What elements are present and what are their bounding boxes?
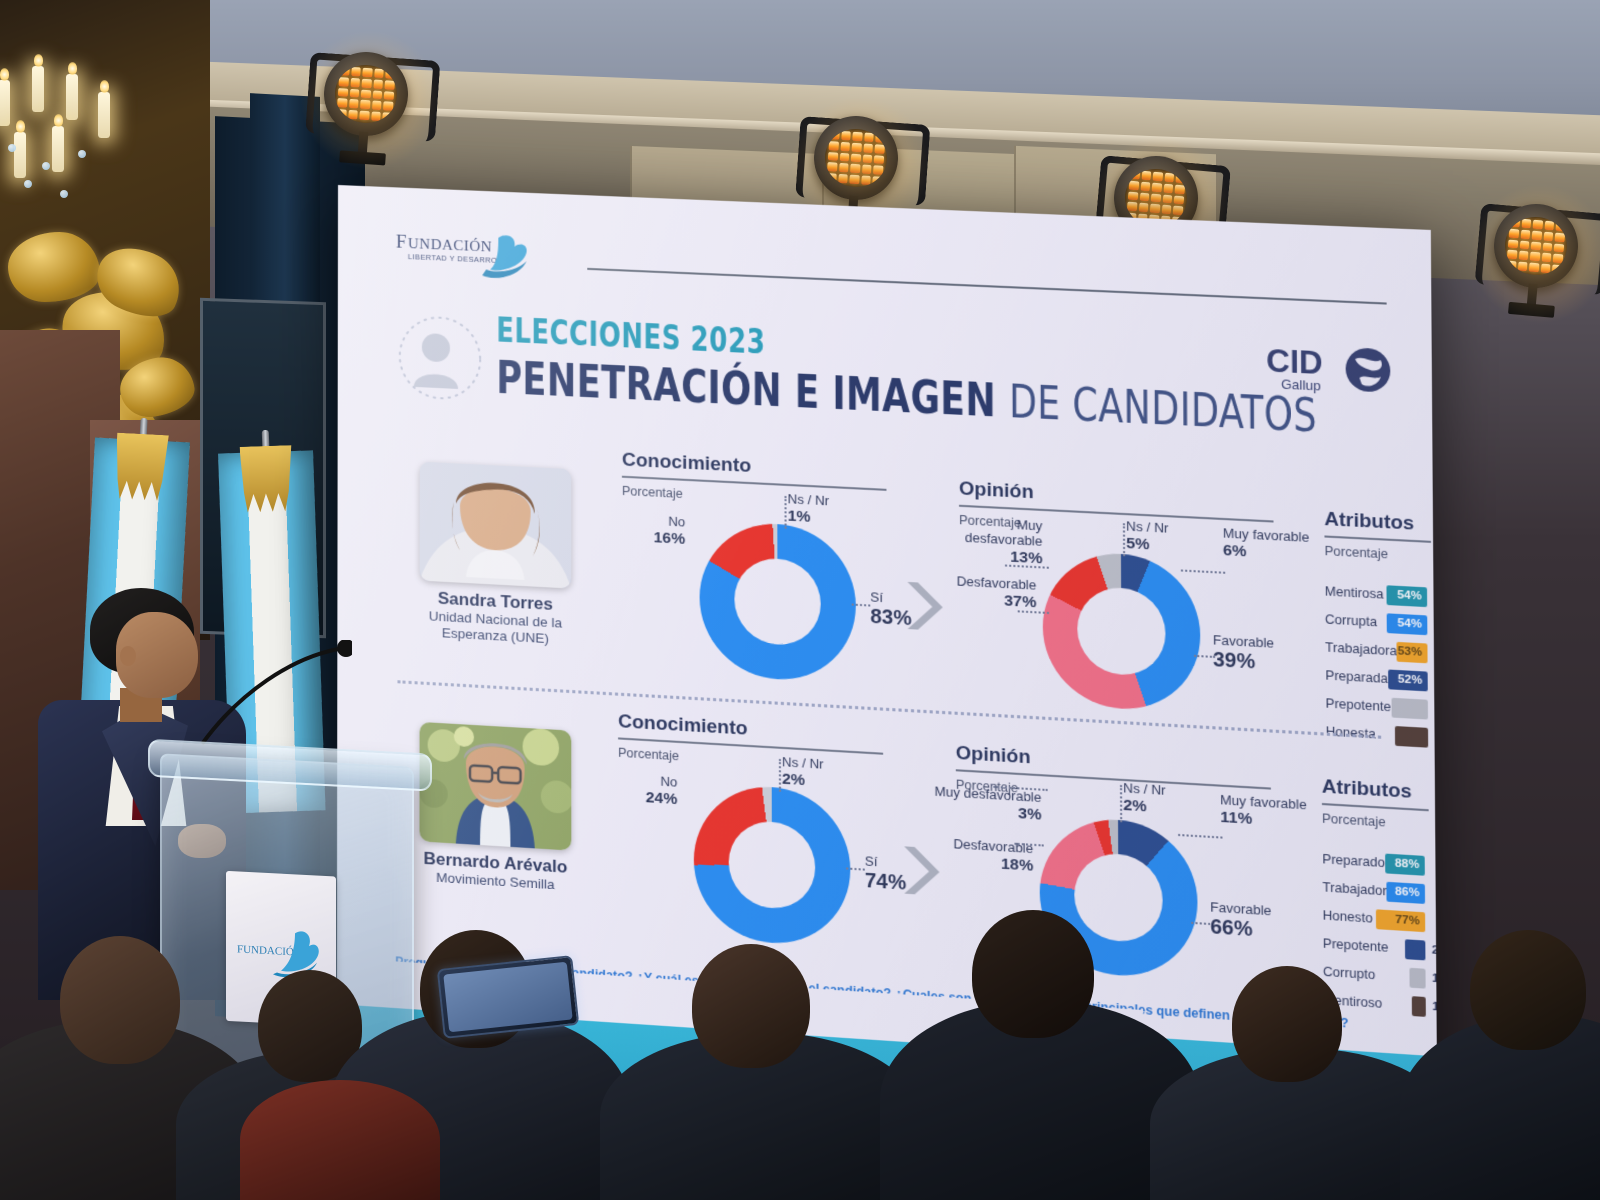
attribute-label: Trabajadora [1325,640,1397,658]
attribute-row: Prepotente21% [1323,931,1426,962]
panel-unit-label: Porcentaje [1325,544,1389,562]
leader-line [1181,569,1225,573]
attribute-bar: 77% [1376,909,1426,932]
leader-line [779,759,781,792]
chandelier [0,40,140,220]
panel-title-opinion: Opinión [956,743,1031,770]
stage-par-light [1484,196,1588,296]
attribute-label: Prepotente [1325,696,1391,714]
attribute-row: Preparado88% [1322,847,1425,878]
attribute-label: Mentiroso [1323,993,1411,1013]
conocimiento-donut-chart [699,520,856,683]
svg-text:CID: CID [1266,343,1323,382]
attribute-bar: 13% [1411,996,1426,1017]
label-desfavorable: Desfavorable18% [929,835,1033,875]
panel-title-opinion: Opinión [959,478,1034,504]
candidate-photo [420,462,572,589]
attribute-row: Trabajadora53% [1325,635,1427,665]
panel-title-atributos: Atributos [1322,776,1412,804]
label-nsnr: Ns / Nr5% [1126,519,1189,556]
attribute-bar: 52% [1388,669,1428,691]
panel-unit-label: Porcentaje [1322,811,1386,829]
attribute-row: Trabajador86% [1322,875,1425,906]
label-muy-desfavorable: Muy desfavorable13% [940,514,1042,568]
fundacion-logo: F UNDACIÓN LIBERTAD Y DESARROLLO [394,225,565,287]
slide-content: F UNDACIÓN LIBERTAD Y DESARROLLO [337,185,1438,1147]
leader-line [1178,834,1222,839]
candidate-profile: Sandra Torres Unidad Nacional de la Espe… [400,461,592,650]
attribute-value: 13% [1426,1000,1438,1015]
header-divider [587,268,1386,305]
panel-unit-label: Porcentaje [618,746,679,764]
label-muy-favorable: Muy favorable6% [1223,526,1329,565]
leader-line [1194,655,1215,658]
label-desfavorable: Desfavorable37% [932,573,1036,612]
conference-room-scene: F UNDACIÓN LIBERTAD Y DESARROLLO [0,0,1600,1200]
attribute-value: 54% [1397,589,1427,603]
panel-divider [1322,803,1429,811]
person-avatar-icon [398,314,482,402]
attribute-row: Preparada52% [1325,663,1428,694]
projection-screen: F UNDACIÓN LIBERTAD Y DESARROLLO [337,185,1438,1147]
attribute-label: Corrupta [1325,612,1387,630]
label-no: No24% [616,772,677,809]
attribute-value: 15% [1426,972,1438,987]
attribute-bar: 54% [1387,585,1428,607]
attribute-bar: 53% [1397,641,1428,662]
attribute-label: Prepotente [1323,936,1405,956]
attribute-bar: 40% [1395,725,1429,747]
slide-title-bold: PENETRACIÓN E IMAGEN [496,350,996,427]
leader-line [1018,610,1049,614]
opinion-donut-chart [1042,550,1200,713]
slide-number: 22 [1378,1101,1401,1126]
attribute-bar: 54% [1387,613,1428,635]
slide-title: PENETRACIÓN E IMAGEN DE CANDIDATOS [496,350,1317,443]
conocimiento-donut-chart [694,783,851,948]
attribute-value: 54% [1397,617,1427,631]
candidate-profile: Bernardo Arévalo Movimiento Semilla [399,721,591,896]
attribute-row: Prepotente47% [1325,691,1428,722]
panel-divider [1324,535,1431,542]
attribute-bar: 21% [1404,939,1425,960]
panel-title-conocimiento: Conocimiento [622,449,751,478]
attribute-bar: 47% [1391,697,1428,719]
leader-line [1123,523,1125,556]
attribute-value: 21% [1425,944,1437,959]
panel-unit-label: Porcentaje [622,484,683,501]
attribute-value: 52% [1398,673,1428,687]
candidate-photo [419,722,571,851]
label-nsnr: Ns / Nr1% [788,492,860,529]
attribute-value: 53% [1398,645,1428,659]
attribute-value: 86% [1395,885,1425,899]
label-favorable: Favorable39% [1213,633,1319,678]
attribute-bar: 88% [1385,853,1425,875]
lectern: FUNDACIÓN [160,753,414,1100]
label-muy-favorable: Muy favorable11% [1220,793,1326,833]
stage-par-light [315,45,417,143]
opinion-donut-chart [1039,815,1197,980]
attribute-label: Trabajador [1322,880,1387,899]
svg-text:Gallup: Gallup [1281,376,1321,393]
atributos-bar-chart: Preparado88%Trabajador86%Honesto77%Prepo… [1322,847,1426,1022]
leader-line [1120,785,1122,822]
lectern-base [172,1078,402,1108]
fundacion-hand-icon [1285,1059,1360,1131]
attribute-label: Preparado [1322,852,1385,870]
cid-gallup-logo: CID Gallup [1266,336,1394,406]
attribute-value: 40% [1428,731,1437,745]
attribute-row: Corrupta54% [1325,607,1427,637]
attribute-label: Honesto [1323,908,1376,926]
atributos-bar-chart: Mentirosa54%Corrupta54%Trabajadora53%Pre… [1325,579,1428,753]
label-no: No16% [624,512,685,548]
attribute-row: Corrupto15% [1323,959,1426,991]
attribute-label: Corrupto [1323,964,1410,984]
attribute-row: Mentirosa54% [1325,579,1427,609]
attribute-value: 77% [1395,914,1425,928]
attribute-value: 88% [1395,857,1425,871]
label-nsnr: Ns / Nr2% [782,755,854,793]
attribute-bar: 15% [1410,967,1426,988]
stage-par-light [805,109,907,207]
attribute-label: Mentirosa [1325,584,1387,602]
attribute-value: 47% [1428,703,1438,717]
attribute-row: Honesto77% [1323,903,1426,934]
leader-line [784,496,786,529]
lectern-logo-plate: FUNDACIÓN [226,871,336,1027]
label-favorable: Favorable66% [1210,900,1316,946]
attribute-label: Preparada [1325,668,1388,686]
label-nsnr: Ns / Nr2% [1123,781,1186,819]
attribute-bar: 86% [1387,881,1425,903]
svg-text:F: F [396,231,407,253]
audience-member-head [1470,930,1586,1050]
panel-title-atributos: Atributos [1324,509,1414,536]
